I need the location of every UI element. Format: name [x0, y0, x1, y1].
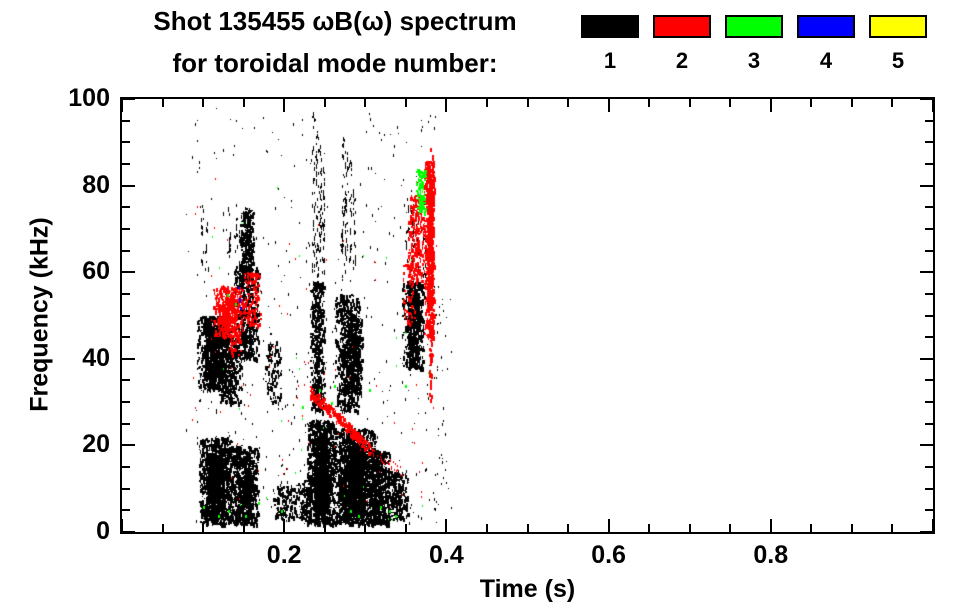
- legend-entry-1: 1: [575, 10, 645, 88]
- y-tick-label-40: 40: [54, 346, 110, 371]
- axis-tick: [648, 99, 650, 107]
- legend-label-mode-3: 3: [719, 46, 789, 76]
- axis-tick: [243, 99, 245, 107]
- axis-tick: [608, 99, 610, 112]
- y-tick-label-80: 80: [54, 173, 110, 198]
- axis-tick: [729, 99, 731, 107]
- axis-tick: [122, 250, 130, 252]
- legend-swatch-mode-5: [869, 15, 927, 38]
- axis-tick: [122, 358, 135, 360]
- axis-tick: [925, 250, 933, 252]
- axis-tick: [891, 99, 893, 107]
- axis-tick: [405, 524, 407, 532]
- axis-tick: [122, 531, 135, 533]
- axis-tick: [925, 423, 933, 425]
- axis-tick: [486, 99, 488, 107]
- axis-tick: [770, 99, 772, 112]
- axis-tick: [608, 519, 610, 532]
- legend-label-mode-5: 5: [863, 46, 933, 76]
- y-tick-label-60: 60: [54, 259, 110, 284]
- axis-tick: [925, 379, 933, 381]
- axis-tick: [925, 336, 933, 338]
- axis-tick: [925, 466, 933, 468]
- axis-tick: [121, 99, 123, 112]
- legend-entry-3: 3: [719, 10, 789, 88]
- axis-tick: [925, 509, 933, 511]
- axis-tick: [243, 524, 245, 532]
- legend-entry-2: 2: [647, 10, 717, 88]
- legend-label-mode-4: 4: [791, 46, 861, 76]
- axis-tick: [920, 271, 933, 273]
- axis-tick: [324, 99, 326, 107]
- axis-tick: [283, 99, 285, 112]
- axis-tick: [810, 524, 812, 532]
- axis-tick: [527, 524, 529, 532]
- axis-tick: [932, 99, 934, 112]
- axis-tick: [925, 228, 933, 230]
- figure-title-line-1: Shot 135455 ωB(ω) spectrum: [100, 4, 570, 38]
- axis-tick: [689, 524, 691, 532]
- axis-tick: [202, 524, 204, 532]
- axis-tick: [920, 98, 933, 100]
- axis-tick: [925, 120, 933, 122]
- axis-tick: [920, 444, 933, 446]
- x-axis-label: Time (s): [120, 575, 935, 604]
- x-tick-label-0.2: 0.2: [239, 540, 329, 570]
- y-axis-label: Frequency (kHz): [26, 185, 55, 445]
- legend-label-mode-2: 2: [647, 46, 717, 76]
- axis-tick: [567, 524, 569, 532]
- axis-tick: [925, 401, 933, 403]
- axis-tick: [122, 315, 130, 317]
- axis-tick: [122, 271, 135, 273]
- axis-tick: [202, 99, 204, 107]
- y-tick-label-20: 20: [54, 432, 110, 457]
- x-tick-label-0.8: 0.8: [726, 540, 816, 570]
- axis-tick: [122, 293, 130, 295]
- axis-tick: [122, 120, 130, 122]
- axis-tick: [122, 444, 135, 446]
- x-tick-label-0.6: 0.6: [564, 540, 654, 570]
- y-axis-tick-labels: 020406080100: [46, 0, 110, 615]
- x-tick-label-0.4: 0.4: [401, 540, 491, 570]
- axis-tick: [122, 336, 130, 338]
- axis-tick: [122, 228, 130, 230]
- y-axis-label-holder: Frequency (kHz): [0, 0, 40, 615]
- spectrogram-figure: Shot 135455 ωB(ω) spectrum for toroidal …: [0, 0, 963, 615]
- axis-tick: [851, 99, 853, 107]
- axis-tick: [364, 524, 366, 532]
- axis-tick: [445, 519, 447, 532]
- axis-tick: [122, 185, 135, 187]
- legend-label-mode-1: 1: [575, 46, 645, 76]
- legend: 12345: [575, 10, 945, 88]
- axis-tick: [445, 99, 447, 112]
- axis-tick: [122, 488, 130, 490]
- axis-tick: [122, 509, 130, 511]
- axis-tick: [920, 185, 933, 187]
- axis-tick: [925, 141, 933, 143]
- axis-tick: [122, 98, 135, 100]
- axis-tick: [122, 401, 130, 403]
- axis-tick: [891, 524, 893, 532]
- axis-tick: [162, 524, 164, 532]
- axis-tick: [925, 293, 933, 295]
- y-tick-label-0: 0: [54, 519, 110, 544]
- axis-tick: [162, 99, 164, 107]
- axis-tick: [810, 99, 812, 107]
- axis-tick: [689, 99, 691, 107]
- legend-swatch-mode-3: [725, 15, 783, 38]
- legend-swatch-mode-1: [581, 15, 639, 38]
- legend-entry-4: 4: [791, 10, 861, 88]
- spectrogram-canvas: [122, 99, 933, 532]
- axis-tick: [851, 524, 853, 532]
- axis-tick: [567, 99, 569, 107]
- axis-tick: [405, 99, 407, 107]
- figure-title-line-2: for toroidal mode number:: [100, 46, 570, 80]
- axis-tick: [648, 524, 650, 532]
- axis-tick: [283, 519, 285, 532]
- axis-tick: [925, 315, 933, 317]
- axis-tick: [770, 519, 772, 532]
- axis-tick: [925, 206, 933, 208]
- axis-tick: [920, 531, 933, 533]
- legend-swatch-mode-4: [797, 15, 855, 38]
- axis-tick: [925, 163, 933, 165]
- axis-tick: [122, 206, 130, 208]
- legend-swatch-mode-2: [653, 15, 711, 38]
- axis-tick: [122, 163, 130, 165]
- y-tick-label-100: 100: [54, 86, 110, 111]
- axis-tick: [527, 99, 529, 107]
- axis-tick: [920, 358, 933, 360]
- plot-area: [120, 97, 935, 534]
- axis-tick: [324, 524, 326, 532]
- axis-tick: [122, 423, 130, 425]
- legend-entry-5: 5: [863, 10, 933, 88]
- axis-tick: [729, 524, 731, 532]
- axis-tick: [122, 141, 130, 143]
- axis-tick: [122, 379, 130, 381]
- axis-tick: [925, 488, 933, 490]
- axis-tick: [122, 466, 130, 468]
- axis-tick: [364, 99, 366, 107]
- axis-tick: [486, 524, 488, 532]
